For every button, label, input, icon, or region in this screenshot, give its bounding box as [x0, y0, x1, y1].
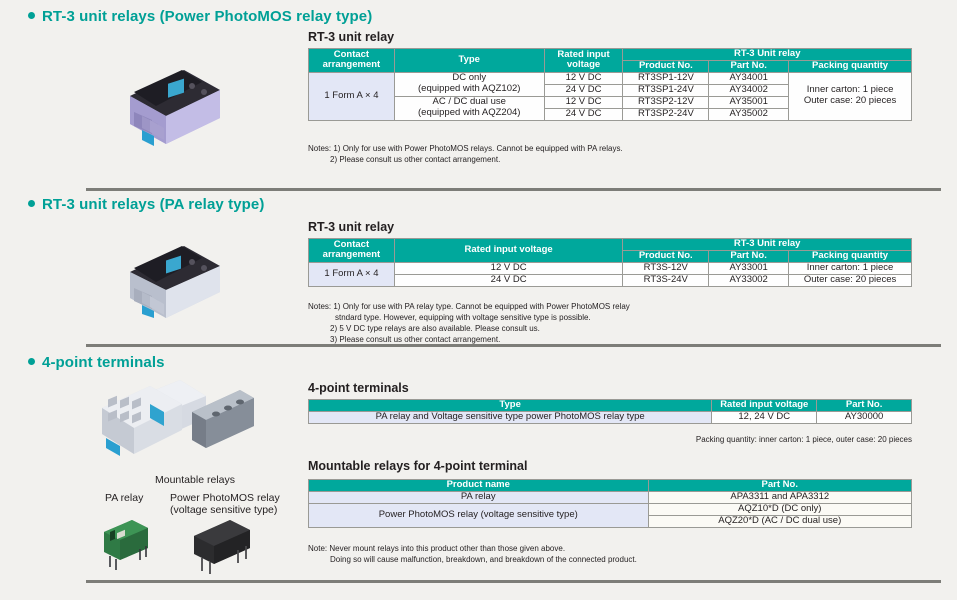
- td-part-no: AY33001: [709, 262, 789, 274]
- td-product-no: RT3SP1-24V: [623, 84, 709, 96]
- label-photomos-l1: Power PhotoMOS relay: [170, 492, 280, 504]
- th-contact-l1: Contact: [334, 239, 369, 250]
- note-item: 1) Only for use with PA relay type. Cann…: [333, 302, 629, 311]
- table-header-row: Contact arrangement Rated input voltage …: [309, 239, 912, 251]
- note-item: Doing so will cause malfunction, breakdo…: [308, 554, 637, 565]
- th-contact-l1: Contact: [334, 49, 369, 60]
- td-voltage: 12 V DC: [544, 96, 623, 108]
- table-row: 24 V DC RT3S-24V AY33002 Outer case: 20 …: [309, 274, 912, 286]
- label-pa-relay: PA relay: [105, 492, 143, 504]
- table-title-4point-terminals: 4-point terminals: [308, 381, 409, 395]
- note-item: 1) Only for use with Power PhotoMOS rela…: [333, 144, 622, 153]
- notes-label: Note:: [308, 544, 327, 553]
- td-voltage: 12 V DC: [394, 262, 622, 274]
- td-part-no: AY34002: [709, 84, 789, 96]
- td-part-no: AY35001: [709, 96, 789, 108]
- photo-photomos-relay: [186, 512, 260, 574]
- notes-label: Notes:: [308, 302, 331, 311]
- bullet-icon: [28, 200, 35, 207]
- section-divider-3: [86, 580, 941, 583]
- td-packing-quantity: Inner carton: 1 piece Outer case: 20 pie…: [789, 72, 912, 120]
- td-type-1-l2: (equipped with AQZ102): [418, 83, 520, 94]
- td-packing-l2: Outer case: 20 pieces: [804, 95, 896, 106]
- relay-photo-rt3-photomos: [112, 58, 227, 150]
- td-packing-quantity: Inner carton: 1 piece: [789, 262, 912, 274]
- section-heading-text: 4-point terminals: [42, 354, 165, 371]
- td-product-name: Power PhotoMOS relay (voltage sensitive …: [309, 503, 649, 527]
- label-mountable-relays: Mountable relays: [155, 474, 235, 486]
- relay-photo-rt3-pa: [112, 238, 227, 318]
- td-voltage: 24 V DC: [544, 84, 623, 96]
- td-part-no: AY34001: [709, 72, 789, 84]
- table-rt3-unit-relay-pa: Contact arrangement Rated input voltage …: [308, 238, 912, 287]
- td-packing-quantity: Outer case: 20 pieces: [789, 274, 912, 286]
- section-divider-1: [86, 188, 941, 191]
- table-4point-terminals: Type Rated input voltage Part No. PA rel…: [308, 399, 912, 424]
- td-product-no: RT3SP2-12V: [623, 96, 709, 108]
- td-product-no: RT3SP2-24V: [623, 108, 709, 120]
- td-rated-voltage: 12, 24 V DC: [712, 411, 817, 423]
- section-heading-rt3-pa: RT-3 unit relays (PA relay type): [28, 196, 264, 213]
- table-row: 1 Form A × 4 12 V DC RT3S-12V AY33001 In…: [309, 262, 912, 274]
- table-title-mountable-relays: Mountable relays for 4-point terminal: [308, 459, 527, 473]
- th-product-no: Product No.: [623, 60, 709, 72]
- td-type: PA relay and Voltage sensitive type powe…: [309, 411, 712, 423]
- packing-quantity-note: Packing quantity: inner carton: 1 piece,…: [696, 435, 912, 444]
- note-item: Never mount relays into this product oth…: [329, 544, 565, 553]
- td-product-no: RT3SP1-12V: [623, 72, 709, 84]
- notes-section-3: Note: Never mount relays into this produ…: [308, 543, 637, 565]
- td-part-no: AQZ20*D (AC / DC dual use): [648, 515, 912, 527]
- th-rated-l1: Rated input: [557, 49, 609, 60]
- td-part-no: AY35002: [709, 108, 789, 120]
- td-voltage: 12 V DC: [544, 72, 623, 84]
- section-heading-4point-terminals: 4-point terminals: [28, 354, 165, 371]
- td-type-2: AC / DC dual use (equipped with AQZ204): [394, 96, 544, 120]
- td-type-2-l2: (equipped with AQZ204): [418, 107, 520, 118]
- table-mountable-relays: Product name Part No. PA relay APA3311 a…: [308, 479, 912, 528]
- note-item: 2) 5 V DC type relays are also available…: [308, 323, 630, 334]
- table-row: Power PhotoMOS relay (voltage sensitive …: [309, 503, 912, 515]
- table-title-rt3-unit-relay-1: RT-3 unit relay: [308, 30, 394, 44]
- th-product-name: Product name: [309, 480, 649, 492]
- table-header-row: Product name Part No.: [309, 480, 912, 492]
- section-heading-text: RT-3 unit relays (Power PhotoMOS relay t…: [42, 8, 372, 25]
- td-contact-arrangement: 1 Form A × 4: [309, 72, 395, 120]
- th-rated-input-voltage: Rated input voltage: [544, 49, 623, 73]
- section-heading-rt3-photomos: RT-3 unit relays (Power PhotoMOS relay t…: [28, 8, 372, 25]
- table-rt3-unit-relay-photomos: Contact arrangement Type Rated input vol…: [308, 48, 912, 121]
- section-heading-text: RT-3 unit relays (PA relay type): [42, 196, 264, 213]
- td-contact-arrangement: 1 Form A × 4: [309, 262, 395, 286]
- table-header-row: Contact arrangement Type Rated input vol…: [309, 49, 912, 61]
- th-rated-input-voltage: Rated input voltage: [394, 239, 622, 263]
- th-part-no: Part No.: [709, 250, 789, 262]
- td-packing-l1: Inner carton: 1 piece: [807, 84, 894, 95]
- table-header-row: Type Rated input voltage Part No.: [309, 400, 912, 412]
- td-part-no: AY33002: [709, 274, 789, 286]
- td-type-1: DC only (equipped with AQZ102): [394, 72, 544, 96]
- td-part-no: AQZ10*D (DC only): [648, 503, 912, 515]
- td-product-no: RT3S-12V: [623, 262, 709, 274]
- td-product-name: PA relay: [309, 491, 649, 503]
- notes-section-2: Notes: 1) Only for use with PA relay typ…: [308, 301, 630, 345]
- notes-label: Notes:: [308, 144, 331, 153]
- th-part-no: Part No.: [648, 480, 912, 492]
- table-row: PA relay and Voltage sensitive type powe…: [309, 411, 912, 423]
- th-type: Type: [309, 400, 712, 412]
- th-rated-input-voltage: Rated input voltage: [712, 400, 817, 412]
- note-item: stndard type. However, equipping with vo…: [308, 312, 630, 323]
- th-contact-l2: arrangement: [323, 59, 381, 70]
- td-type-1-l1: DC only: [452, 72, 486, 83]
- td-voltage: 24 V DC: [544, 108, 623, 120]
- td-product-no: RT3S-24V: [623, 274, 709, 286]
- note-item: 2) Please consult us other contact arran…: [308, 154, 623, 165]
- th-packing-quantity: Packing quantity: [789, 60, 912, 72]
- th-product-no: Product No.: [623, 250, 709, 262]
- th-type: Type: [394, 49, 544, 73]
- table-title-rt3-unit-relay-2: RT-3 unit relay: [308, 220, 394, 234]
- photo-4point-terminal-assembly: [88, 378, 263, 460]
- th-packing-quantity: Packing quantity: [789, 250, 912, 262]
- td-part-no: AY30000: [817, 411, 912, 423]
- td-voltage: 24 V DC: [394, 274, 622, 286]
- td-type-2-l1: AC / DC dual use: [433, 96, 506, 107]
- notes-section-1: Notes: 1) Only for use with Power PhotoM…: [308, 143, 623, 165]
- td-part-no: APA3311 and APA3312: [648, 491, 912, 503]
- th-contact-l2: arrangement: [323, 249, 381, 260]
- th-part-no: Part No.: [817, 400, 912, 412]
- th-rated-l2: voltage: [567, 59, 600, 70]
- th-contact-arrangement: Contact arrangement: [309, 49, 395, 73]
- th-group-rt3-unit-relay: RT-3 Unit relay: [623, 239, 912, 251]
- th-contact-arrangement: Contact arrangement: [309, 239, 395, 263]
- th-group-rt3-unit-relay: RT-3 Unit relay: [623, 49, 912, 61]
- bullet-icon: [28, 358, 35, 365]
- table-row: 1 Form A × 4 DC only (equipped with AQZ1…: [309, 72, 912, 84]
- table-row: PA relay APA3311 and APA3312: [309, 491, 912, 503]
- bullet-icon: [28, 12, 35, 19]
- section-divider-2: [86, 344, 941, 347]
- th-part-no: Part No.: [709, 60, 789, 72]
- photo-pa-relay: [96, 512, 158, 570]
